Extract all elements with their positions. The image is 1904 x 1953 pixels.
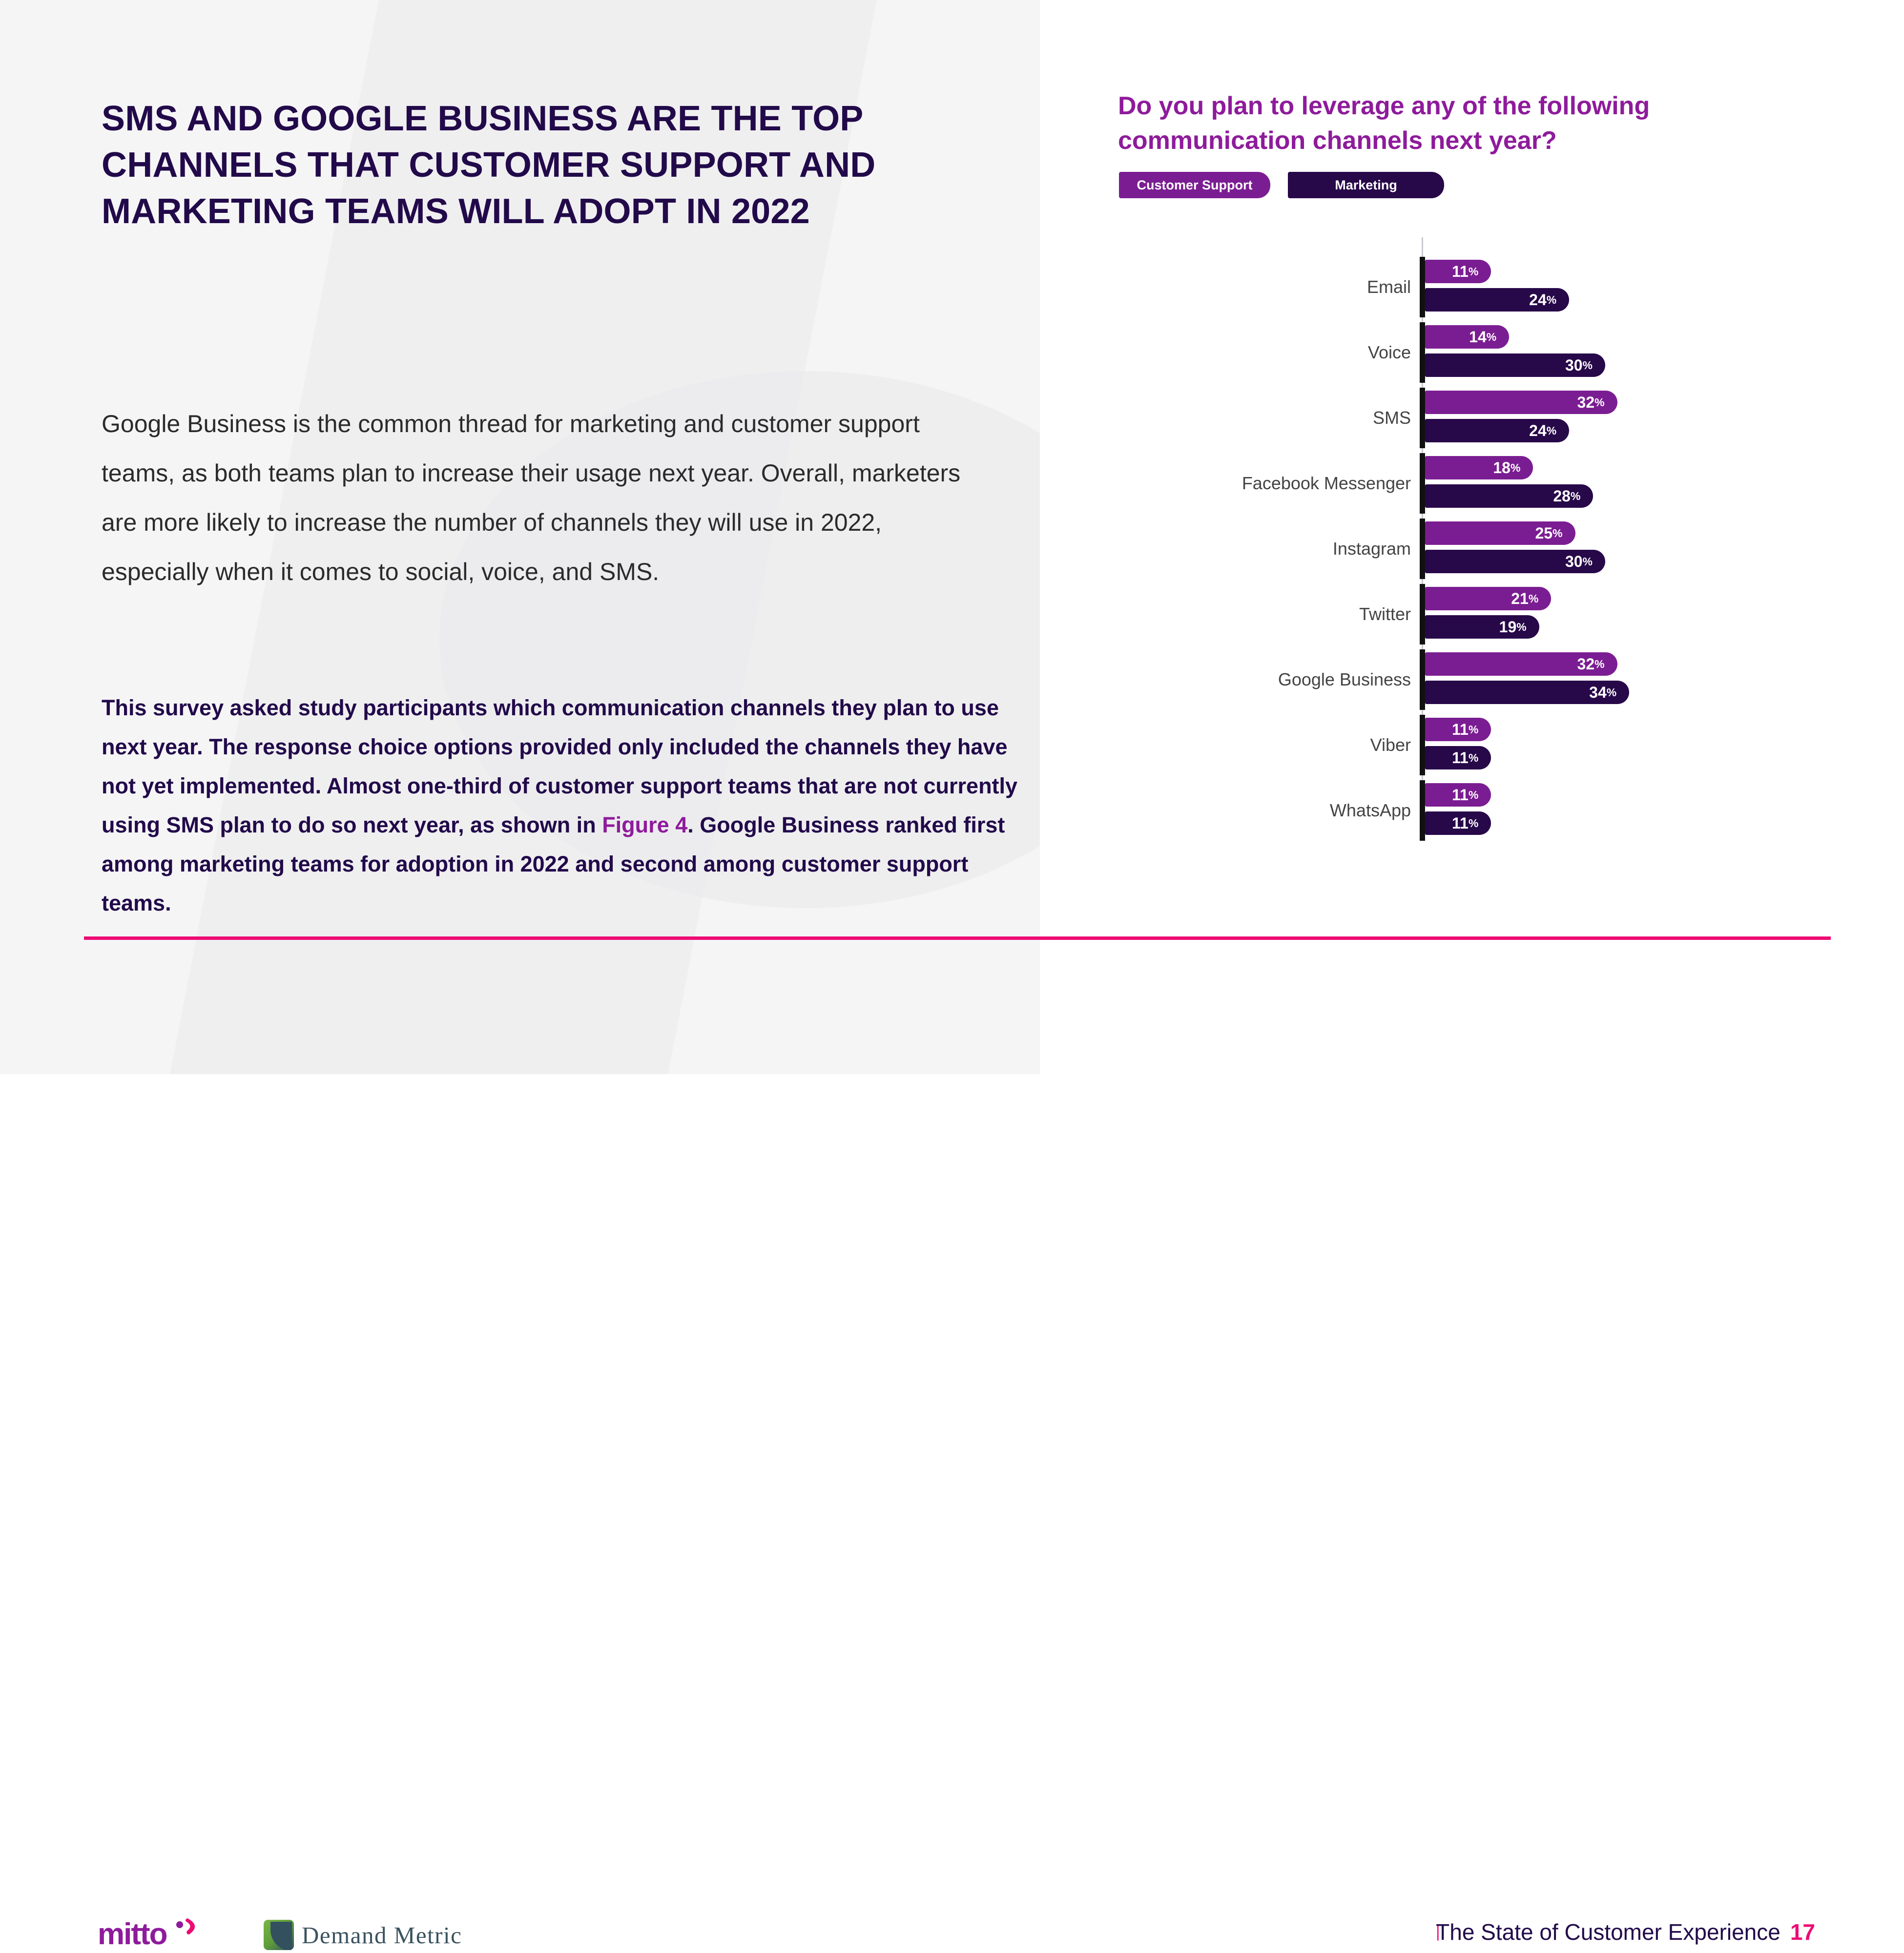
chart-bar-marketing[interactable]: 30% [1425,550,1605,573]
slide-page: SMS AND GOOGLE BUSINESS ARE THE TOP CHAN… [0,0,1904,1074]
bar-chart: Email11%24%Voice14%30%SMS32%24%Facebook … [1040,237,1904,852]
chart-group: Instagram25%30% [1040,519,1904,579]
chart-bar-value-suffix: % [1547,424,1556,437]
chart-category-label: Facebook Messenger [1242,473,1411,494]
bold-paragraph: This survey asked study participants whi… [102,688,1024,923]
chart-bar-marketing[interactable]: 28% [1425,484,1593,508]
chart-bar-value: 30 [1565,553,1583,571]
chart-category-label: Google Business [1278,669,1411,690]
chart-axis-tick [1420,780,1425,841]
footer-report-title: The State of Customer Experience [1436,1919,1780,1945]
footer-page-number: 17 [1790,1919,1815,1945]
legend-item-customer-support[interactable]: Customer Support [1119,172,1270,198]
chart-bar-value-suffix: % [1469,723,1478,736]
chart-group: Facebook Messenger18%28% [1040,453,1904,514]
chart-bar-customer-support[interactable]: 32% [1425,652,1617,676]
chart-axis-tick [1420,453,1425,514]
chart-axis-tick [1420,649,1425,710]
page-footer: mitto Demand Metric The State of Custome… [0,950,1904,1038]
chart-bar-value-suffix: % [1469,817,1478,830]
chart-bar-pair: 18%28% [1425,453,1864,514]
chart-bar-pair: 21%19% [1425,584,1864,644]
chart-bar-value: 28 [1553,487,1571,505]
chart-bar-value: 18 [1493,459,1511,477]
chart-bar-customer-support[interactable]: 11% [1425,260,1491,283]
chart-bar-customer-support[interactable]: 25% [1425,521,1575,545]
chart-bar-value: 11 [1452,749,1469,767]
chart-bar-value-suffix: % [1469,265,1478,278]
chart-group: Twitter21%19% [1040,584,1904,644]
chart-bar-value: 11 [1452,786,1469,804]
chart-legend: Customer Support Marketing [1119,172,1444,198]
chart-bar-value-suffix: % [1583,555,1593,568]
chart-axis-tick [1420,388,1425,448]
chart-bar-customer-support[interactable]: 32% [1425,391,1617,414]
chart-bar-marketing[interactable]: 11% [1425,811,1491,835]
chart-bar-pair: 25%30% [1425,519,1864,579]
chart-bar-value-suffix: % [1583,359,1593,372]
chart-category-label: WhatsApp [1330,800,1411,821]
chart-bar-value-suffix: % [1469,789,1478,802]
chart-bar-value-suffix: % [1529,592,1538,605]
chart-bar-value-suffix: % [1511,461,1520,475]
body-paragraph: Google Business is the common thread for… [102,399,985,597]
chart-bar-customer-support[interactable]: 18% [1425,456,1533,479]
chart-axis-tick [1420,715,1425,775]
chart-group: Viber11%11% [1040,715,1904,775]
chart-bar-value-suffix: % [1552,527,1562,540]
chart-title: Do you plan to leverage any of the follo… [1118,89,1753,158]
chart-bar-value: 14 [1469,328,1487,346]
left-panel: SMS AND GOOGLE BUSINESS ARE THE TOP CHAN… [0,0,1040,1074]
chart-bar-value-suffix: % [1571,490,1580,503]
mitto-logo[interactable]: mitto [98,1915,220,1953]
chart-bar-value: 30 [1565,356,1583,374]
chart-bar-value: 24 [1529,422,1547,440]
chart-group: SMS32%24% [1040,388,1904,448]
chart-bar-value-suffix: % [1594,658,1604,671]
chart-bar-marketing[interactable]: 30% [1425,353,1605,377]
chart-bar-marketing[interactable]: 34% [1425,681,1629,704]
footer-divider-rule [84,936,1831,940]
chart-bar-value-suffix: % [1516,621,1526,634]
chart-bar-groups: Email11%24%Voice14%30%SMS32%24%Facebook … [1040,257,1904,846]
chart-bar-value-suffix: % [1594,396,1604,409]
chart-bar-value-suffix: % [1469,751,1478,765]
demand-metric-logo[interactable]: Demand Metric [264,1919,498,1951]
right-panel: Do you plan to leverage any of the follo… [1040,0,1904,1074]
chart-category-label: Twitter [1359,604,1411,624]
demand-metric-mark-icon [264,1920,294,1950]
chart-bar-value-suffix: % [1607,686,1616,699]
chart-bar-value-suffix: % [1487,331,1496,344]
svg-text:mitto: mitto [98,1917,167,1951]
chart-bar-value: 24 [1529,291,1547,309]
chart-bar-value: 21 [1511,590,1529,608]
chart-category-label: Voice [1368,342,1411,363]
chart-bar-pair: 11%11% [1425,715,1864,775]
chart-category-label: Viber [1370,735,1411,755]
chart-bar-pair: 11%11% [1425,780,1864,841]
chart-bar-pair: 32%34% [1425,649,1864,710]
chart-bar-value: 19 [1499,618,1517,636]
chart-bar-pair: 32%24% [1425,388,1864,448]
chart-bar-customer-support[interactable]: 11% [1425,783,1491,807]
chart-bar-customer-support[interactable]: 14% [1425,325,1509,349]
left-content: SMS AND GOOGLE BUSINESS ARE THE TOP CHAN… [102,0,1029,1074]
chart-bar-value-suffix: % [1547,293,1556,307]
chart-category-label: Email [1367,277,1411,297]
chart-bar-value: 34 [1589,684,1607,702]
demand-metric-wordmark: Demand Metric [302,1921,462,1949]
chart-bar-marketing[interactable]: 24% [1425,419,1569,442]
chart-bar-value: 11 [1452,263,1469,281]
chart-bar-customer-support[interactable]: 11% [1425,718,1491,741]
chart-bar-marketing[interactable]: 24% [1425,288,1569,312]
chart-bar-marketing[interactable]: 19% [1425,615,1539,639]
chart-bar-value: 11 [1452,814,1469,832]
chart-bar-customer-support[interactable]: 21% [1425,587,1551,610]
chart-axis-tick [1420,519,1425,579]
page-headline: SMS AND GOOGLE BUSINESS ARE THE TOP CHAN… [102,96,1029,235]
footer-meta: The State of Customer Experience | 17 [1436,1919,1815,1945]
chart-group: WhatsApp11%11% [1040,780,1904,841]
figure-reference-link[interactable]: Figure 4 [602,812,687,837]
chart-category-label: Instagram [1333,539,1411,559]
legend-item-marketing[interactable]: Marketing [1288,172,1444,198]
chart-group: Google Business32%34% [1040,649,1904,710]
chart-axis-tick [1420,584,1425,644]
chart-axis-tick [1420,257,1425,317]
chart-category-label: SMS [1373,408,1411,428]
chart-bar-marketing[interactable]: 11% [1425,746,1491,769]
chart-group: Voice14%30% [1040,322,1904,383]
chart-bar-value: 32 [1577,655,1595,673]
chart-bar-pair: 11%24% [1425,257,1864,317]
chart-bar-pair: 14%30% [1425,322,1864,383]
chart-bar-value: 11 [1452,721,1469,739]
chart-group: Email11%24% [1040,257,1904,317]
chart-axis-tick [1420,322,1425,383]
chart-bar-value: 25 [1535,524,1552,542]
chart-bar-value: 32 [1577,394,1595,412]
